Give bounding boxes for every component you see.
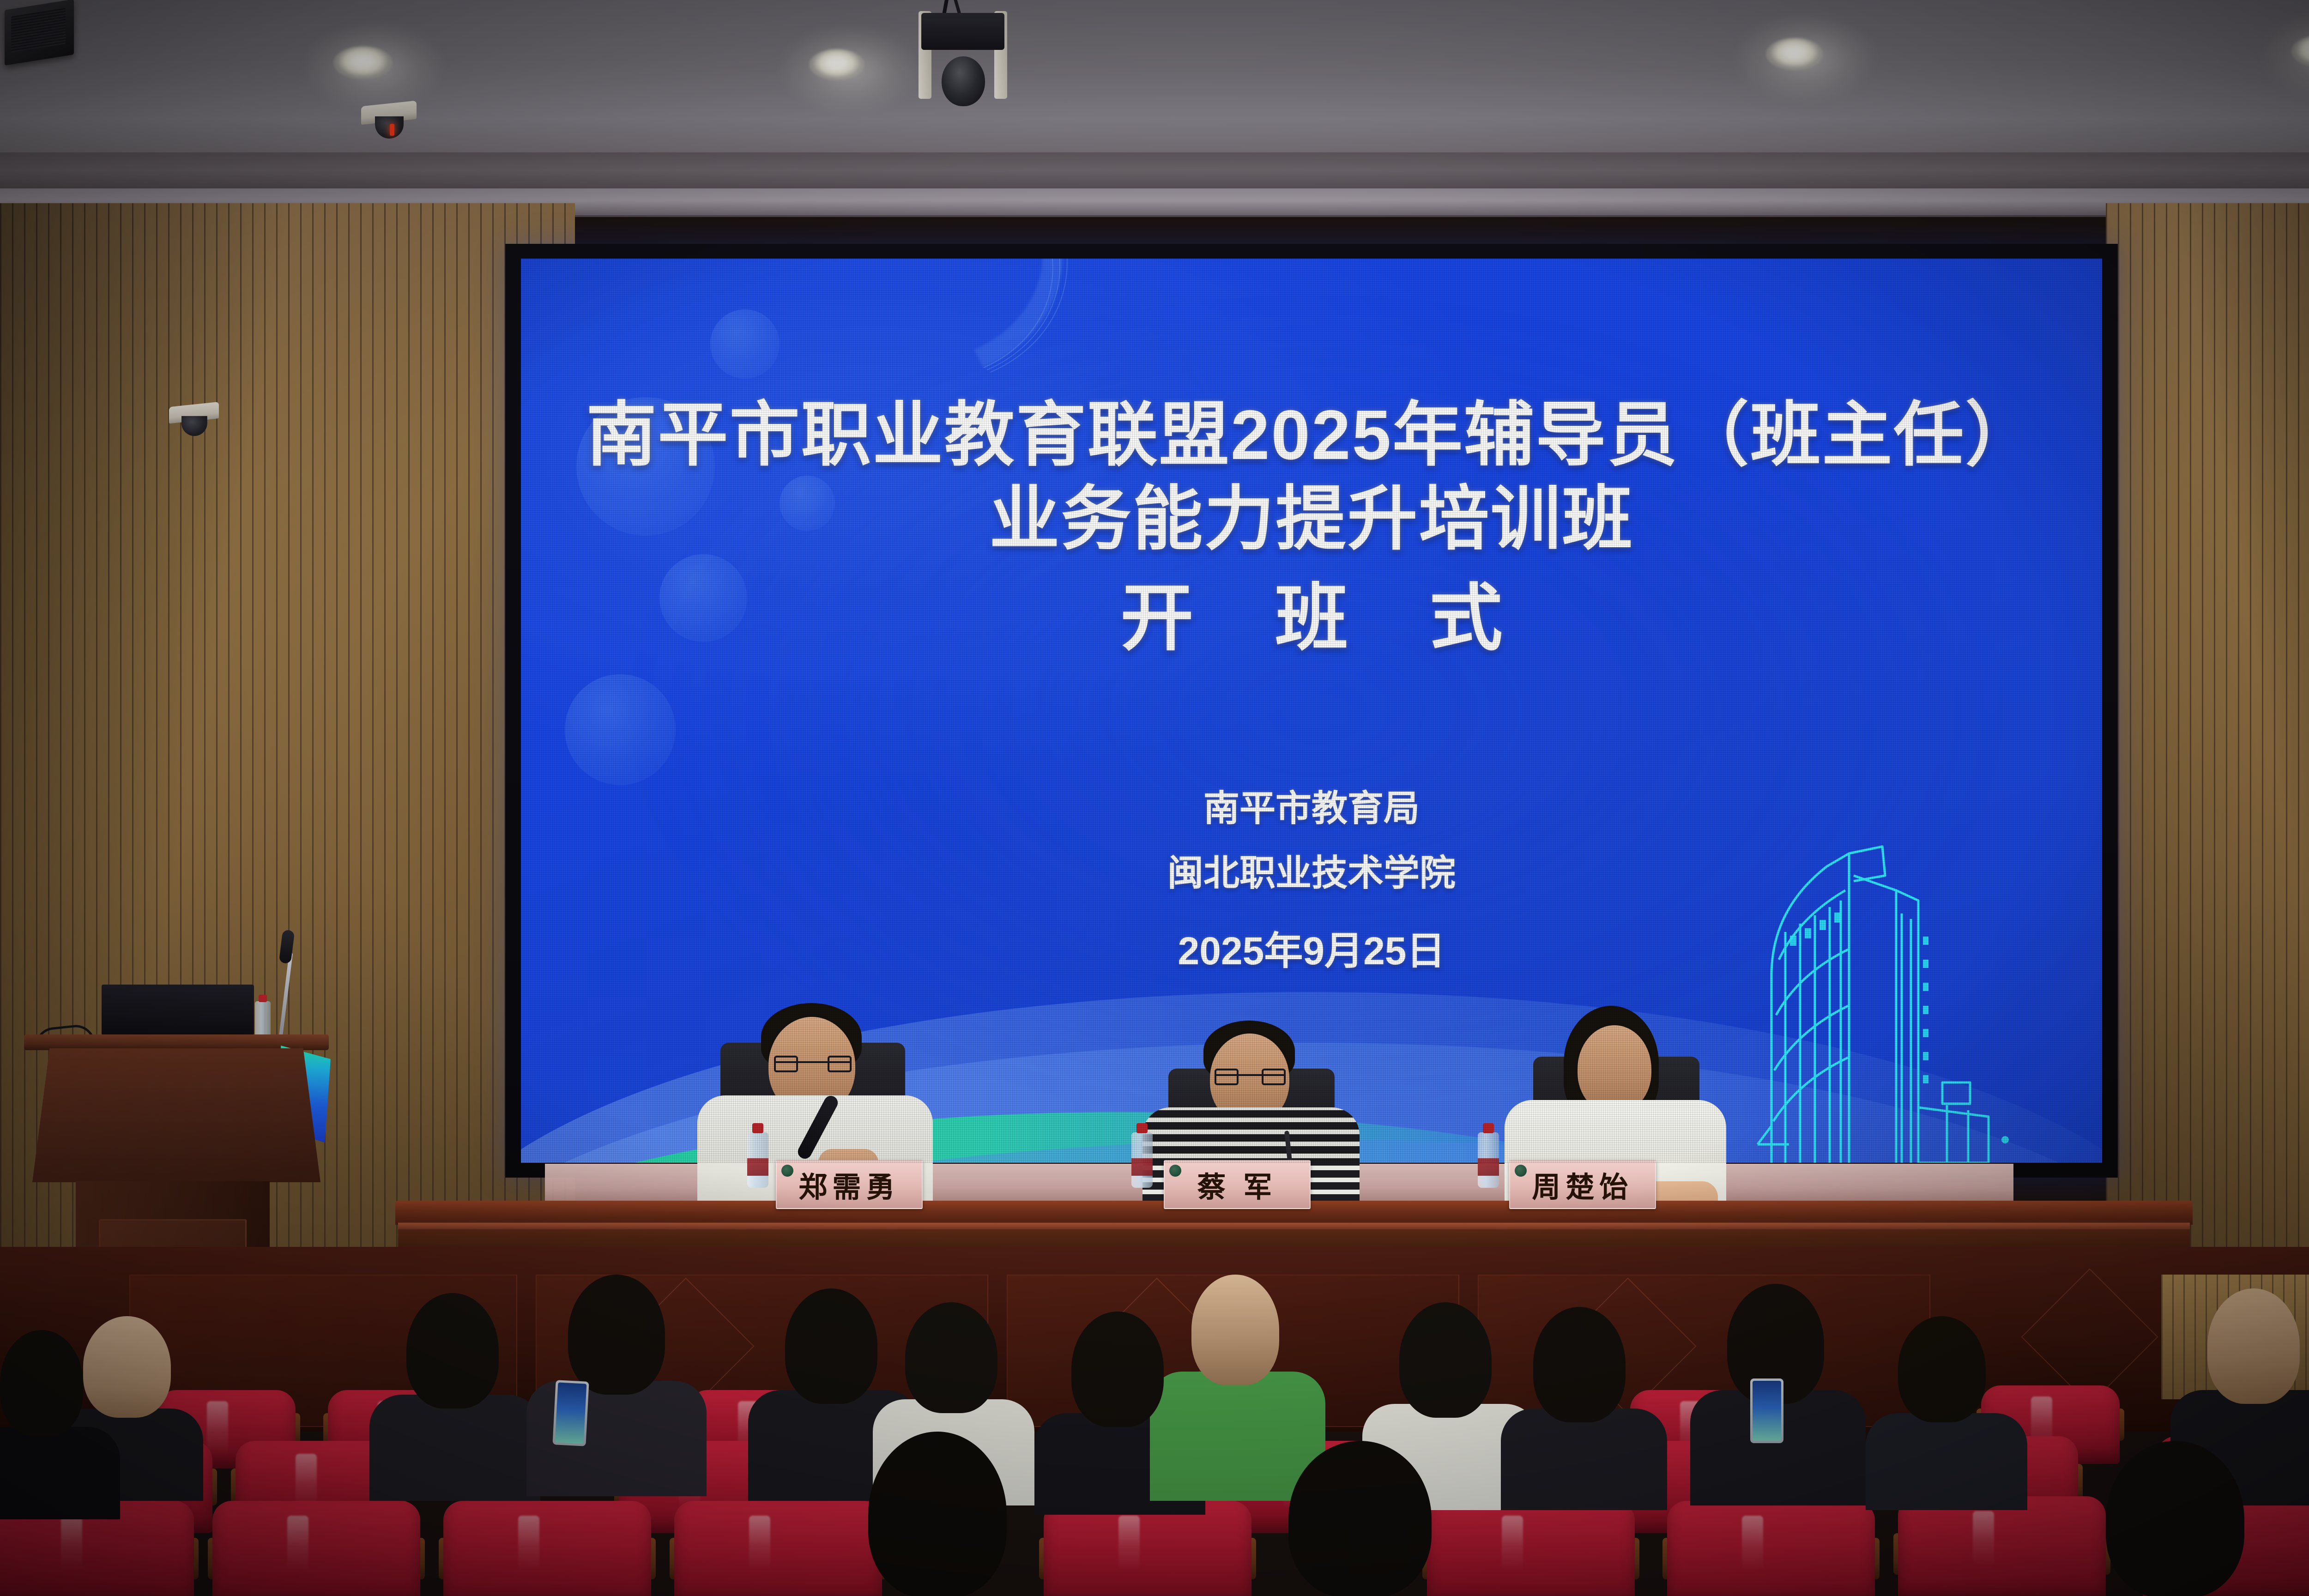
nameplate-2: 蔡 军 (1164, 1160, 1311, 1209)
auditorium-seat (1427, 1501, 1635, 1596)
nameplate-seal-icon (1515, 1165, 1527, 1177)
wall-dome-camera-icon (361, 103, 417, 138)
nameplate-seal-icon (781, 1165, 793, 1177)
screen-date: 2025年9月25日 (521, 920, 2102, 976)
smartphone-icon (552, 1380, 589, 1446)
audience-head (905, 1302, 997, 1413)
ceiling-speaker-icon (5, 0, 74, 66)
auditorium-seat (1044, 1501, 1251, 1596)
audience-head (0, 1330, 83, 1436)
podium-body (32, 1048, 320, 1182)
audience-head-foreground (2106, 1441, 2244, 1596)
audience-head (785, 1288, 877, 1404)
nameplate-seal-icon (1169, 1165, 1181, 1177)
auditorium-seat (443, 1501, 651, 1596)
screen-text-block: 南平市职业教育联盟2025年辅导员（班主任） 业务能力提升培训班 开 班 式 南… (521, 259, 2102, 1163)
audience-head (83, 1316, 171, 1418)
downlight-icon (809, 49, 864, 80)
camera-status-led-icon (390, 124, 394, 136)
audience-head (1533, 1307, 1626, 1422)
nameplate-3: 周楚饴 (1509, 1160, 1656, 1209)
auditorium-scene: 南平市职业教育联盟2025年辅导员（班主任） 业务能力提升培训班 开 班 式 南… (0, 0, 2309, 1596)
audience-shoulders (1866, 1413, 2027, 1510)
audience-head (1191, 1275, 1279, 1385)
auditorium-seat (1667, 1501, 1875, 1596)
audience-head (1071, 1312, 1164, 1427)
screen-organizer-2: 闽北职业技术学院 (521, 844, 2102, 896)
audience-head (568, 1275, 665, 1395)
nameplate-1: 郑需勇 (776, 1160, 923, 1209)
audience-head (1399, 1302, 1492, 1418)
downlight-icon (1766, 38, 1823, 70)
auditorium-seat (674, 1501, 882, 1596)
wall-panel-right (2106, 203, 2309, 1321)
auditorium-seat (1898, 1496, 2106, 1596)
audience-shoulders (1501, 1409, 1667, 1510)
audience-head-foreground (1288, 1441, 1432, 1596)
audience-shoulders (369, 1395, 540, 1501)
head-table-trim (398, 1223, 2190, 1229)
screen-title-line-2: 业务能力提升培训班 (521, 462, 2102, 563)
ceiling-beam (0, 152, 2309, 188)
nameplate-3-text: 周楚饴 (1532, 1164, 1633, 1205)
audience-head (406, 1293, 499, 1409)
audience-head (2207, 1288, 2300, 1404)
screen-organizer-1: 南平市教育局 (521, 780, 2102, 831)
screen-title-line-3: 开 班 式 (521, 559, 2102, 665)
audience-head-foreground (868, 1432, 1007, 1596)
audience-shoulders (0, 1427, 120, 1519)
water-bottle-icon (255, 1001, 271, 1039)
auditorium-seat (212, 1501, 420, 1596)
podium-monitor (102, 985, 254, 1035)
wall-dome-camera-icon (169, 405, 219, 435)
nameplate-2-text: 蔡 军 (1197, 1164, 1277, 1205)
downlight-icon (333, 46, 393, 79)
nameplate-1-text: 郑需勇 (798, 1164, 900, 1205)
smartphone-icon (1750, 1378, 1783, 1443)
led-screen: 南平市职业教育联盟2025年辅导员（班主任） 业务能力提升培训班 开 班 式 南… (521, 259, 2102, 1163)
audience-head (1898, 1316, 1986, 1422)
